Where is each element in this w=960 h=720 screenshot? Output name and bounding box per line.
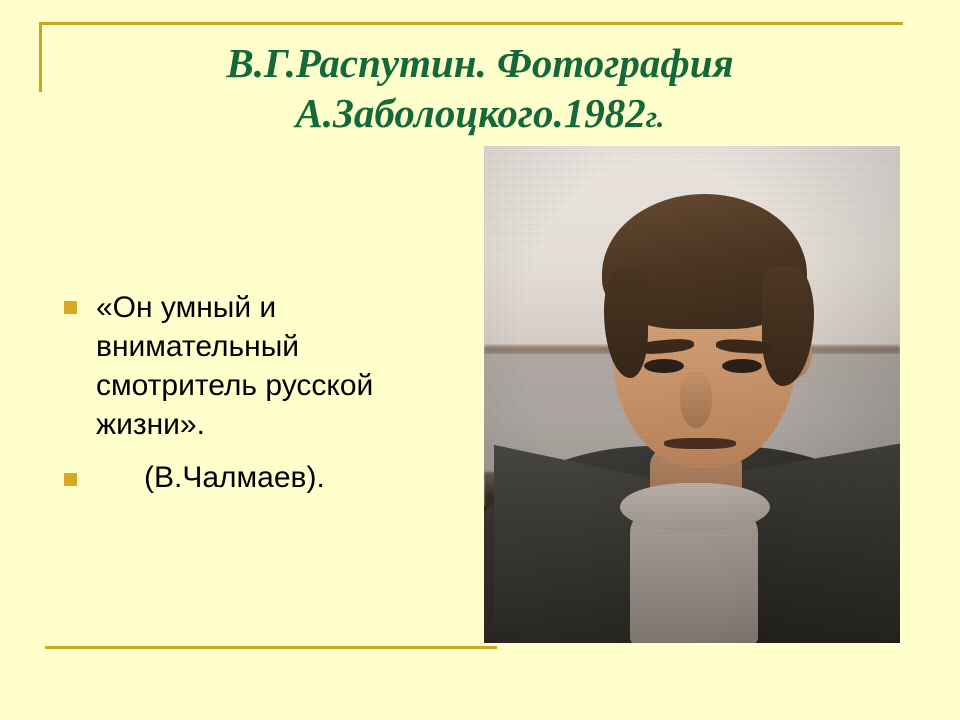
photo-eye-right <box>722 359 762 373</box>
top-accent-rule <box>39 22 903 25</box>
slide: В.Г.Распутин. Фотография А.Заболоцкого.1… <box>0 0 960 720</box>
list-item-label: (В.Чалмаев). <box>96 458 325 497</box>
title-line-1: В.Г.Распутин. Фотография <box>60 38 900 88</box>
title-line-2-suffix: г. <box>646 99 665 134</box>
list-item: (В.Чалмаев). <box>56 458 456 497</box>
photo-sweater-collar <box>620 483 770 531</box>
photo-coat-right-lapel <box>734 439 900 643</box>
list-item-label: «Он умный и внимательный смотритель русс… <box>96 291 373 441</box>
photo-eye-left <box>644 359 684 373</box>
quote-bullet-list: «Он умный и внимательный смотритель русс… <box>56 288 456 503</box>
page-title: В.Г.Распутин. Фотография А.Заболоцкого.1… <box>60 38 900 139</box>
left-accent-rule <box>39 22 42 92</box>
photo-nose <box>680 372 712 428</box>
title-line-2-main: А.Заболоцкого.1982 <box>295 90 645 136</box>
title-line-2: А.Заболоцкого.1982г. <box>60 88 900 138</box>
square-bullet-icon <box>64 473 77 486</box>
list-item: «Он умный и внимательный смотритель русс… <box>56 288 456 444</box>
square-bullet-icon <box>64 301 77 314</box>
bottom-accent-rule <box>45 646 497 649</box>
portrait-photo <box>484 146 900 643</box>
photo-mouth <box>664 438 736 449</box>
